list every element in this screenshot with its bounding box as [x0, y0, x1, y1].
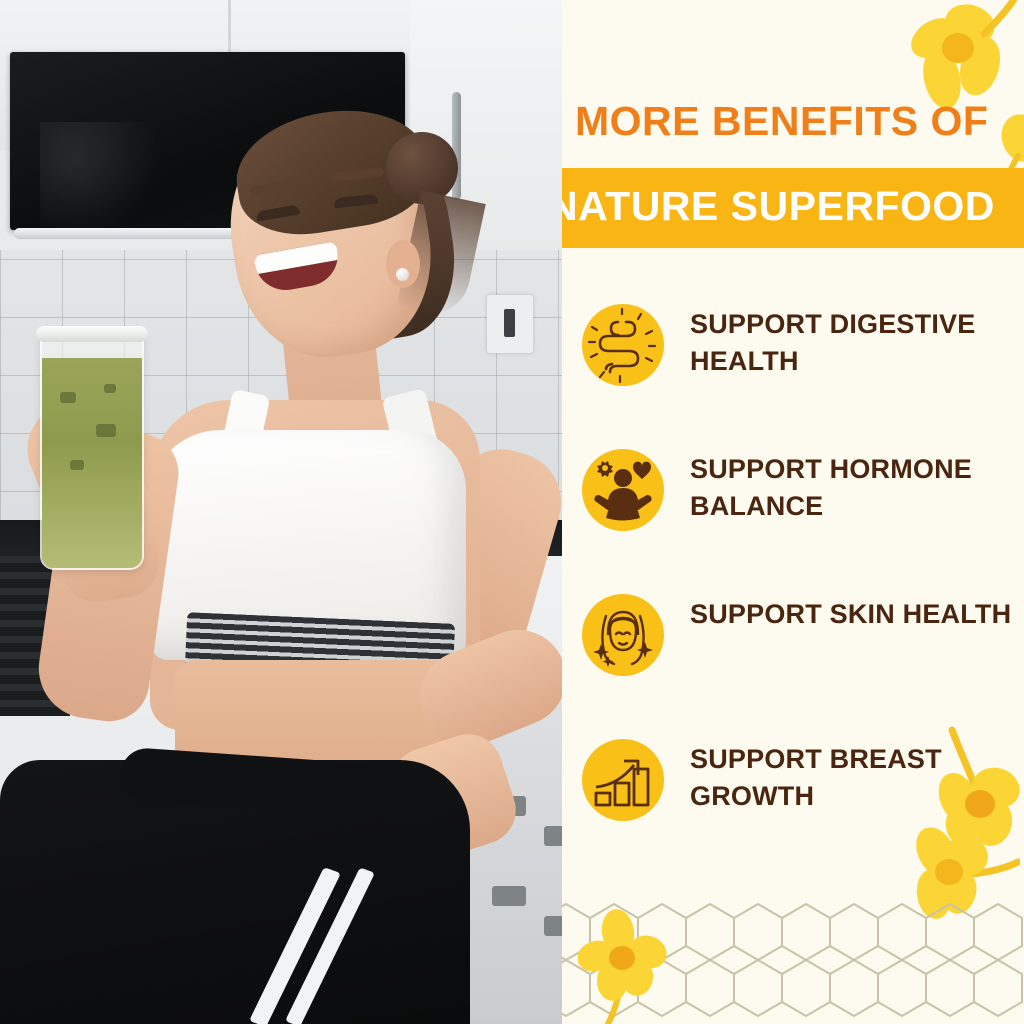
page-title-line1: MORE BENEFITS OF	[575, 101, 1024, 142]
list-item[interactable]: SUPPORT HORMONE BALANCE	[562, 441, 1024, 586]
intestine-icon	[582, 304, 664, 386]
face-sparkle-icon	[582, 594, 664, 676]
meditation-gear-heart-icon	[582, 449, 664, 531]
benefit-label: SUPPORT SKIN HEALTH	[690, 596, 1012, 633]
list-item[interactable]: SUPPORT SKIN HEALTH	[562, 586, 1024, 731]
benefits-panel: MORE BENEFITS OF NATURE SUPERFOOD	[562, 0, 1024, 1024]
earring	[396, 268, 409, 281]
cup-rim	[36, 326, 148, 342]
green-smoothie-cup	[40, 330, 144, 570]
person	[0, 0, 562, 1024]
lifestyle-photo	[0, 0, 562, 1024]
benefit-label: SUPPORT HORMONE BALANCE	[690, 451, 1012, 526]
poster-canvas: MORE BENEFITS OF NATURE SUPERFOOD	[0, 0, 1024, 1024]
list-item[interactable]: SUPPORT DIGESTIVE HEALTH	[562, 296, 1024, 441]
smoothie-liquid	[42, 358, 142, 568]
page-title-line2: NATURE SUPERFOOD	[562, 186, 1024, 227]
bottom-left-flower	[578, 908, 674, 1024]
growth-chart-icon	[582, 739, 664, 821]
benefit-label: SUPPORT DIGESTIVE HEALTH	[690, 306, 1012, 381]
